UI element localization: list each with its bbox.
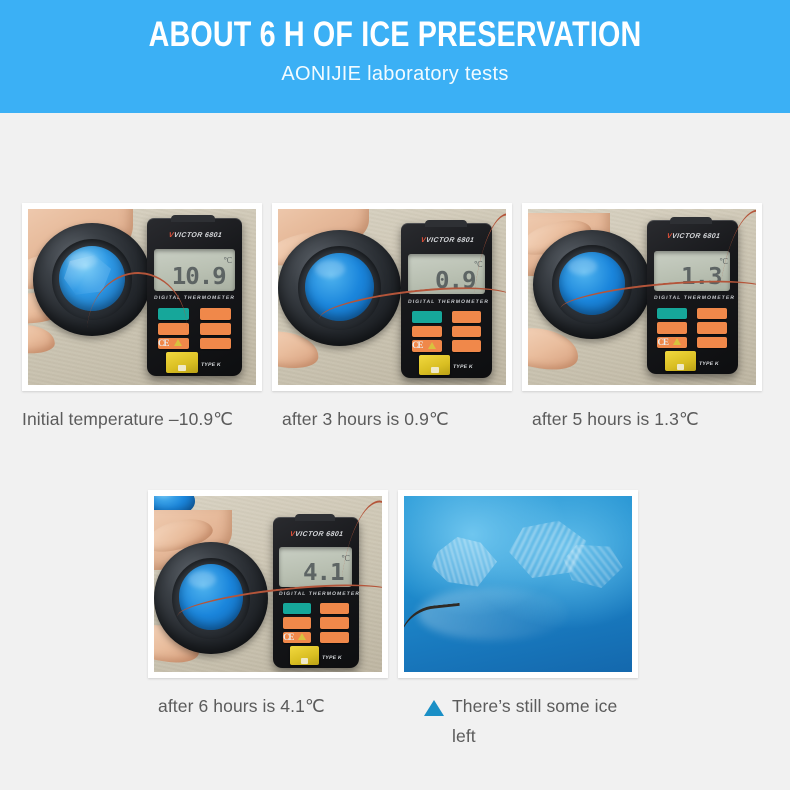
device-brand-label: VVICTOR 6801 (655, 233, 731, 242)
connector-label: TYPE K (698, 361, 719, 367)
brand-name: VICTOR (426, 237, 456, 244)
probe-jack (665, 351, 696, 371)
gallery-item-ice-closeup: There’s still some ice left (398, 490, 638, 751)
device-model: 6801 (702, 233, 720, 240)
note-line-1: There’s still (452, 696, 541, 716)
photo-frame[interactable]: VVICTOR 6801 10.9 ℃ DIGITAL THERMOMETER (22, 203, 262, 391)
caption-ice-note-text: There’s still some ice left (452, 691, 622, 751)
device-markings: CE (283, 628, 349, 646)
gallery-item-6-hours: VVICTOR 6801 4.1 ℃ DIGITAL THERMOMETER (148, 490, 388, 751)
device-top-cap (295, 514, 335, 521)
device-model: 6801 (457, 237, 475, 244)
caption-3-hours: after 3 hours is 0.9℃ (272, 404, 532, 434)
probe-wire (404, 602, 466, 671)
brand-name: VICTOR (173, 232, 203, 239)
lcd-unit: ℃ (223, 256, 232, 265)
photo-frame[interactable]: VVICTOR 6801 4.1 ℃ DIGITAL THERMOMETER (148, 490, 388, 678)
lcd-reading: 4.1 (303, 562, 343, 585)
device-top-cap (425, 220, 467, 227)
connector-label: TYPE K (453, 364, 474, 370)
device-top-cap (171, 215, 215, 222)
hold-button[interactable] (200, 308, 231, 320)
page-header-banner: ABOUT 6 H OF ICE PRESERVATION AONIJIE la… (0, 0, 790, 113)
device-markings: CE (657, 333, 726, 352)
brand-name: VICTOR (295, 531, 325, 538)
photo-gallery: VVICTOR 6801 10.9 ℃ DIGITAL THERMOMETER (0, 113, 790, 790)
photo-3-hours: VVICTOR 6801 0.9 ℃ DIGITAL THERMOMETER (278, 209, 506, 385)
device-brand-label: VVICTOR 6801 (155, 232, 235, 241)
photo-6-hours: VVICTOR 6801 4.1 ℃ DIGITAL THERMOMETER (154, 496, 382, 672)
device-model: 6801 (326, 531, 344, 538)
photo-5-hours: VVICTOR 6801 1.3 ℃ DIGITAL THERMOMETER (528, 209, 756, 385)
photo-frame[interactable]: VVICTOR 6801 1.3 ℃ DIGITAL THERMOMETER (522, 203, 762, 391)
device-markings: CE (412, 336, 481, 355)
connector-label: TYPE K (201, 362, 222, 368)
device-brand-label: VVICTOR 6801 (410, 237, 486, 246)
caption-5-hours: after 5 hours is 1.3℃ (522, 404, 782, 434)
page-title: ABOUT 6 H OF ICE PRESERVATION (71, 0, 719, 56)
probe-jack (419, 355, 450, 375)
gallery-row-bottom: VVICTOR 6801 4.1 ℃ DIGITAL THERMOMETER (148, 490, 638, 751)
device-top-cap (670, 217, 712, 224)
caption-ice-note: There’s still some ice left (398, 691, 674, 751)
photo-initial: VVICTOR 6801 10.9 ℃ DIGITAL THERMOMETER (28, 209, 256, 385)
gallery-item-initial: VVICTOR 6801 10.9 ℃ DIGITAL THERMOMETER (22, 203, 262, 434)
device-brand-label: VVICTOR 6801 (281, 531, 353, 540)
caption-6-hours: after 6 hours is 4.1℃ (148, 691, 408, 721)
lcd-reading: 10.9 (171, 266, 225, 289)
device-model: 6801 (204, 232, 222, 239)
warning-triangle-icon (673, 338, 681, 345)
ce-icon: CE (657, 337, 668, 347)
gallery-row-top: VVICTOR 6801 10.9 ℃ DIGITAL THERMOMETER (22, 203, 762, 434)
connector-label: TYPE K (321, 655, 342, 661)
photo-frame[interactable] (398, 490, 638, 678)
gallery-item-5-hours: VVICTOR 6801 1.3 ℃ DIGITAL THERMOMETER (522, 203, 762, 434)
photo-frame[interactable]: VVICTOR 6801 0.9 ℃ DIGITAL THERMOMETER (272, 203, 512, 391)
warning-triangle-icon (428, 342, 436, 349)
ice-crystal (431, 535, 499, 591)
ice-pack (533, 230, 652, 339)
gallery-item-3-hours: VVICTOR 6801 0.9 ℃ DIGITAL THERMOMETER (272, 203, 512, 434)
warning-triangle-icon (298, 633, 306, 640)
ce-icon: CE (283, 632, 294, 642)
photo-ice-closeup (404, 496, 632, 672)
triangle-icon (424, 700, 444, 716)
probe-jack (290, 646, 319, 666)
ce-icon: CE (412, 340, 423, 350)
ice-closeup-scene (404, 496, 632, 672)
caption-initial: Initial temperature –10.9℃ (22, 404, 272, 434)
brand-name: VICTOR (671, 233, 701, 240)
page-subtitle: AONIJIE laboratory tests (0, 56, 790, 86)
